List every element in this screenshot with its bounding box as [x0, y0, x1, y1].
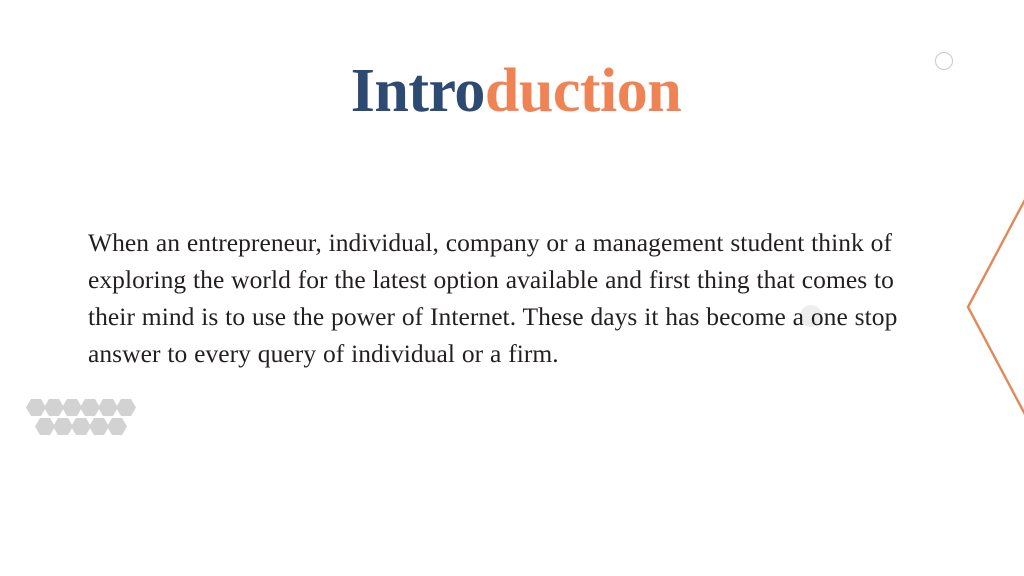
slide-title-text: Introduction	[0, 60, 1024, 122]
title-segment-accent: duction	[485, 57, 681, 125]
honeycomb-pattern-icon	[22, 398, 162, 436]
page-title: Introduction	[0, 60, 1024, 122]
hexagon-outline-icon	[908, 190, 1024, 424]
body-text-block: When an entrepreneur, individual, compan…	[88, 224, 918, 372]
title-segment-primary: Intro	[351, 57, 485, 125]
body-paragraph: When an entrepreneur, individual, compan…	[88, 224, 918, 372]
slide-canvas: Introduction When an entrepreneur, indiv…	[0, 0, 1024, 576]
